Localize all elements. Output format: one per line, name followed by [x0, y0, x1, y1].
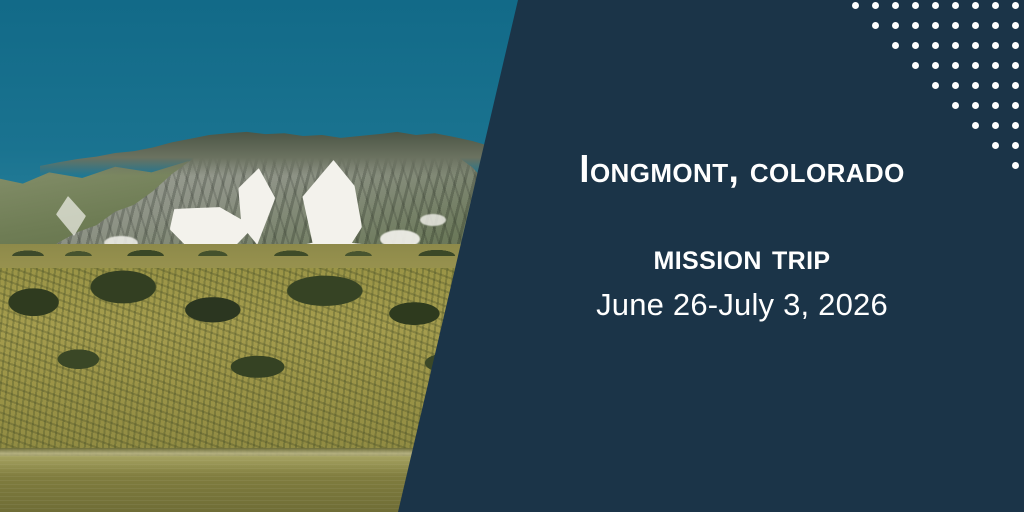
- grid-dot: [1012, 62, 1019, 69]
- grid-dot: [892, 2, 899, 9]
- grid-dot: [1012, 2, 1019, 9]
- mission-trip-banner: Longmont, Colorado Mission Trip June 26-…: [0, 0, 1024, 512]
- grid-dot: [952, 102, 959, 109]
- grid-dot: [912, 62, 919, 69]
- grid-dot: [892, 22, 899, 29]
- grid-dot: [892, 42, 899, 49]
- grid-dot: [972, 102, 979, 109]
- text-block: Longmont, Colorado Mission Trip June 26-…: [500, 150, 984, 323]
- grid-dot: [932, 22, 939, 29]
- grid-dot: [972, 2, 979, 9]
- grid-dot: [952, 2, 959, 9]
- grid-dot: [952, 22, 959, 29]
- grid-dot: [932, 2, 939, 9]
- grid-dot: [912, 2, 919, 9]
- grid-dot: [1012, 22, 1019, 29]
- grid-dot: [932, 42, 939, 49]
- snow-patch: [420, 214, 446, 226]
- grid-dot: [952, 82, 959, 89]
- grid-dot: [972, 42, 979, 49]
- grid-dot: [992, 122, 999, 129]
- headline: Longmont, Colorado: [500, 150, 984, 191]
- grid-dot: [992, 42, 999, 49]
- grid-dot: [1012, 102, 1019, 109]
- grid-dot: [1012, 42, 1019, 49]
- grid-dot: [972, 62, 979, 69]
- grid-dot: [1012, 122, 1019, 129]
- grid-dot: [852, 2, 859, 9]
- grid-dot: [992, 82, 999, 89]
- grid-dot: [972, 122, 979, 129]
- grid-dot: [1012, 82, 1019, 89]
- grid-dot: [1012, 142, 1019, 149]
- grid-dot: [1012, 162, 1019, 169]
- grid-dot: [992, 142, 999, 149]
- grid-dot: [952, 42, 959, 49]
- event-dates: June 26-July 3, 2026: [500, 287, 984, 323]
- grid-dot: [952, 62, 959, 69]
- grid-dot: [932, 62, 939, 69]
- grid-dot: [992, 102, 999, 109]
- grid-dot: [912, 22, 919, 29]
- subtitle: Mission Trip: [500, 239, 984, 278]
- grid-dot: [992, 62, 999, 69]
- grid-dot: [872, 2, 879, 9]
- grid-dot: [912, 42, 919, 49]
- grid-dot: [872, 22, 879, 29]
- grid-dot: [972, 82, 979, 89]
- grid-dot: [992, 22, 999, 29]
- grid-dot: [992, 2, 999, 9]
- grid-dot: [972, 22, 979, 29]
- grid-dot: [932, 82, 939, 89]
